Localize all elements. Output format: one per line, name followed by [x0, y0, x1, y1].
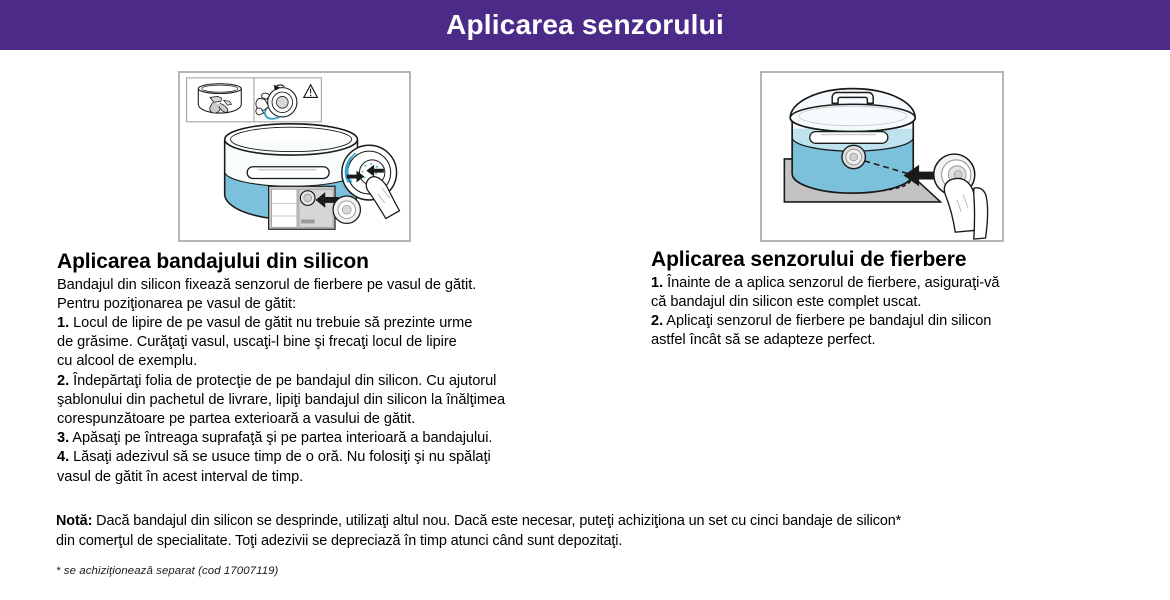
left-section-heading: Aplicarea bandajului din silicon	[57, 250, 617, 274]
left-line-4-text: de grăsime. Curăţaţi vasul, uscaţi-l bin…	[57, 334, 457, 350]
right-line-4-text: astfel încât să se adapteze perfect.	[651, 332, 876, 348]
left-line-10-text: Lăsaţi adezivul să se usuce timp de o or…	[69, 449, 491, 465]
right-body-line-1: 1. Înainte de a aplica senzorul de fierb…	[651, 274, 1121, 293]
left-line-11-text: vasul de gătit în acest interval de timp…	[57, 469, 303, 485]
left-line-2-text: Pentru poziţionarea pe vasul de gătit:	[57, 296, 296, 312]
sensor-disc-detached	[333, 196, 360, 223]
left-body-line-6: 2. Îndepărtaţi folia de protecţie de pe …	[57, 372, 617, 391]
left-line-3-text: Locul de lipire de pe vasul de gătit nu …	[69, 315, 472, 331]
right-line-2-text: că bandajul din silicon este complet usc…	[651, 294, 921, 310]
left-body-line-5: cu alcool de exemplu.	[57, 352, 617, 371]
left-body-line-9: 3. Apăsaţi pe întreaga suprafaţă şi pe p…	[57, 429, 617, 448]
note-line-1: Notă: Dacă bandajul din silicon se despr…	[56, 512, 1116, 532]
left-line-7-text: şablonului din pachetul de livrare, lipi…	[57, 392, 505, 408]
left-line-8-text: corespunzătoare pe partea exterioară a v…	[57, 411, 415, 427]
silicone-band-target	[842, 145, 865, 168]
right-body-line-4: astfel încât să se adapteze perfect.	[651, 331, 1121, 350]
left-line-10-bold: 4.	[57, 449, 69, 465]
left-illustration-svg	[180, 73, 409, 240]
left-body-line-4: de grăsime. Curăţaţi vasul, uscaţi-l bin…	[57, 333, 617, 352]
right-body-line-3: 2. Aplicaţi senzorul de fierbere pe band…	[651, 312, 1121, 331]
right-line-3-text: Aplicaţi senzorul de fierbere pe bandaju…	[663, 313, 991, 329]
right-section-heading: Aplicarea senzorului de fierbere	[651, 248, 1121, 272]
left-line-6-text: Îndepărtaţi folia de protecţie de pe ban…	[69, 373, 496, 389]
right-text-column: Aplicarea senzorului de fierbere 1. Înai…	[651, 248, 1121, 350]
left-line-6-bold: 2.	[57, 373, 69, 389]
left-line-3-bold: 1.	[57, 315, 69, 331]
pot-inner-handle	[247, 167, 329, 179]
left-text-column: Aplicarea bandajului din silicon Bandaju…	[57, 250, 617, 487]
right-line-1-bold: 1.	[651, 275, 663, 291]
page-header-band: Aplicarea senzorului	[0, 0, 1170, 50]
right-line-3-bold: 2.	[651, 313, 663, 329]
left-body-line-11: vasul de gătit în acest interval de timp…	[57, 468, 617, 487]
right-line-1-text: Înainte de a aplica senzorul de fierbere…	[663, 275, 999, 291]
left-body-line-10: 4. Lăsaţi adezivul să se usuce timp de o…	[57, 448, 617, 467]
right-illustration-svg	[762, 73, 1002, 240]
left-body-line-1: Bandajul din silicon fixează senzorul de…	[57, 276, 617, 295]
footnote-text: * se achiziţionează separat (cod 1700711…	[56, 564, 278, 578]
note-line-2: din comerţul de specialitate. Toţi adezi…	[56, 532, 1116, 552]
page-title: Aplicarea senzorului	[446, 11, 724, 39]
note-label: Notă:	[56, 513, 92, 529]
left-line-9-text: Apăsaţi pe întreaga suprafaţă şi pe part…	[69, 430, 492, 446]
right-body-line-2: că bandajul din silicon este complet usc…	[651, 293, 1121, 312]
left-line-5-text: cu alcool de exemplu.	[57, 353, 197, 369]
silicone-band-application-illustration	[178, 71, 411, 242]
note-line-1-text: Dacă bandajul din silicon se desprinde, …	[92, 513, 901, 529]
boiling-sensor-application-illustration	[760, 71, 1004, 242]
note-block: Notă: Dacă bandajul din silicon se despr…	[56, 512, 1116, 551]
cooking-pot-with-lid	[790, 89, 915, 193]
left-body-line-7: şablonului din pachetul de livrare, lipi…	[57, 391, 617, 410]
pot-inner-handle	[810, 132, 888, 144]
left-line-9-bold: 3.	[57, 430, 69, 446]
left-body-line-3: 1. Locul de lipire de pe vasul de gătit …	[57, 314, 617, 333]
inset-panels-group	[187, 78, 322, 122]
left-line-1-text: Bandajul din silicon fixează senzorul de…	[57, 277, 476, 293]
left-body-line-8: corespunzătoare pe partea exterioară a v…	[57, 410, 617, 429]
left-body-line-2: Pentru poziţionarea pe vasul de gătit:	[57, 295, 617, 314]
